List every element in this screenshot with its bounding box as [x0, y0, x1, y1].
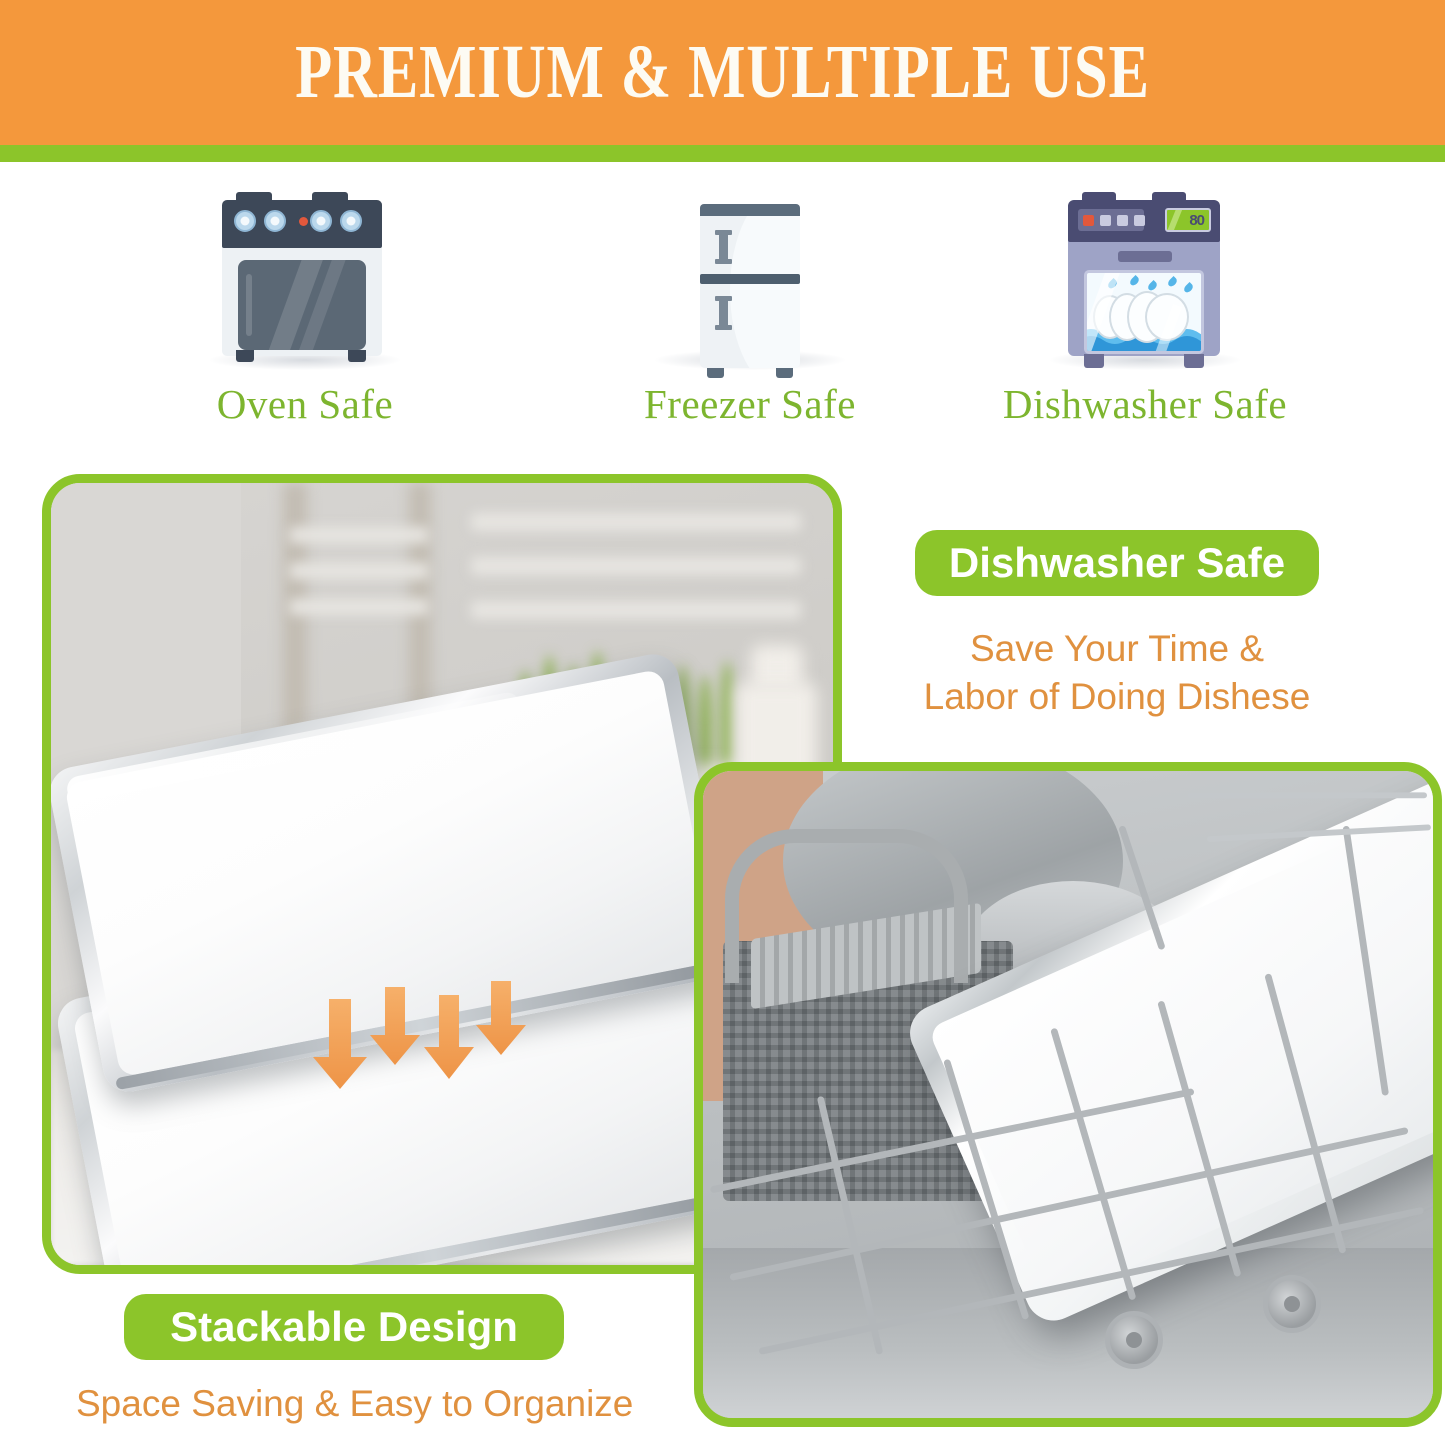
refrigerator-top-cap [700, 204, 800, 216]
dishwasher-display-gloss [1165, 208, 1183, 232]
rack-wheel-right [1263, 1275, 1321, 1333]
shelf-rail-top [471, 513, 801, 531]
feature-label-dishwasher: Dishwasher Safe [1003, 380, 1287, 428]
dishwasher-button-1 [1100, 215, 1111, 226]
shelf-rail-low [471, 601, 801, 619]
water-drop-icon [1166, 276, 1178, 288]
stackable-design-pill: Stackable Design [124, 1294, 564, 1360]
dishwasher-safe-subtitle: Save Your Time & Labor of Doing Dishese [905, 625, 1329, 721]
oven-knob-4 [340, 210, 362, 232]
refrigerator-door-divider [700, 274, 800, 284]
refrigerator-icon [645, 178, 855, 378]
dishwasher-foot-right [1184, 354, 1204, 368]
feature-dishwasher-safe: 80 Dishwasher Safe [955, 178, 1335, 448]
dishwasher-button-2 [1117, 215, 1128, 226]
feature-freezer-safe: Freezer Safe [560, 178, 940, 448]
dishwasher-handle [1118, 251, 1172, 262]
dishwasher-subtitle-line-1: Save Your Time & [905, 625, 1329, 673]
dishwasher-button-3 [1134, 215, 1145, 226]
dishwasher-icon: 80 [1040, 178, 1250, 378]
shelf-bar-1 [289, 527, 429, 543]
rack-wheel-left [1105, 1311, 1163, 1369]
shelf-rail-mid [471, 557, 801, 575]
refrigerator-gloss [730, 206, 800, 368]
dishwasher-safe-pill: Dishwasher Safe [915, 530, 1319, 596]
oven-knob-2 [264, 210, 286, 232]
oven-knob-1 [234, 210, 256, 232]
page-title: PREMIUM & MULTIPLE USE [145, 0, 1301, 145]
feature-oven-safe: Oven Safe [115, 178, 495, 448]
dishwasher-foot-left [1084, 354, 1104, 368]
dishwasher-subtitle-line-2: Labor of Doing Dishese [905, 673, 1329, 721]
refrigerator-handle-upper [719, 230, 728, 264]
oven-indicator-light [299, 217, 308, 226]
stacking-arrows [309, 981, 539, 1101]
dishwasher-display-value: 80 [1189, 212, 1209, 229]
dish-rack-wires [703, 771, 1433, 1418]
stack-arrow-3 [424, 995, 474, 1079]
dishwasher-photo-inner [703, 771, 1433, 1418]
shelf-bar-2 [289, 563, 429, 579]
feature-label-freezer: Freezer Safe [644, 380, 856, 428]
shelf-bar-3 [289, 599, 429, 615]
oven-foot-right [348, 350, 366, 362]
refrigerator-handle-lower [719, 296, 728, 330]
dishwasher-window [1084, 270, 1204, 354]
stackable-design-subtitle: Space Saving & Easy to Organize [76, 1380, 624, 1428]
dishwasher-power-button [1083, 215, 1094, 226]
dishwasher-safe-photo [694, 762, 1442, 1427]
feature-label-oven: Oven Safe [217, 380, 393, 428]
feature-icon-row: Oven Safe Freezer Safe [0, 178, 1445, 448]
oven-icon [200, 178, 410, 378]
dishwasher-display: 80 [1165, 208, 1211, 232]
stack-arrow-1 [313, 999, 367, 1089]
stack-arrow-2 [370, 987, 420, 1065]
water-drop-icon [1128, 275, 1140, 287]
oven-glass-edge-highlight [246, 274, 252, 336]
water-drop-icon [1182, 282, 1194, 294]
stack-arrow-4 [476, 981, 526, 1055]
header-accent-bar [0, 145, 1445, 162]
oven-door [238, 260, 366, 350]
oven-knob-3 [310, 210, 332, 232]
oven-foot-left [236, 350, 254, 362]
stackable-subtitle-line-1: Space Saving & Easy to Organize [76, 1380, 624, 1428]
